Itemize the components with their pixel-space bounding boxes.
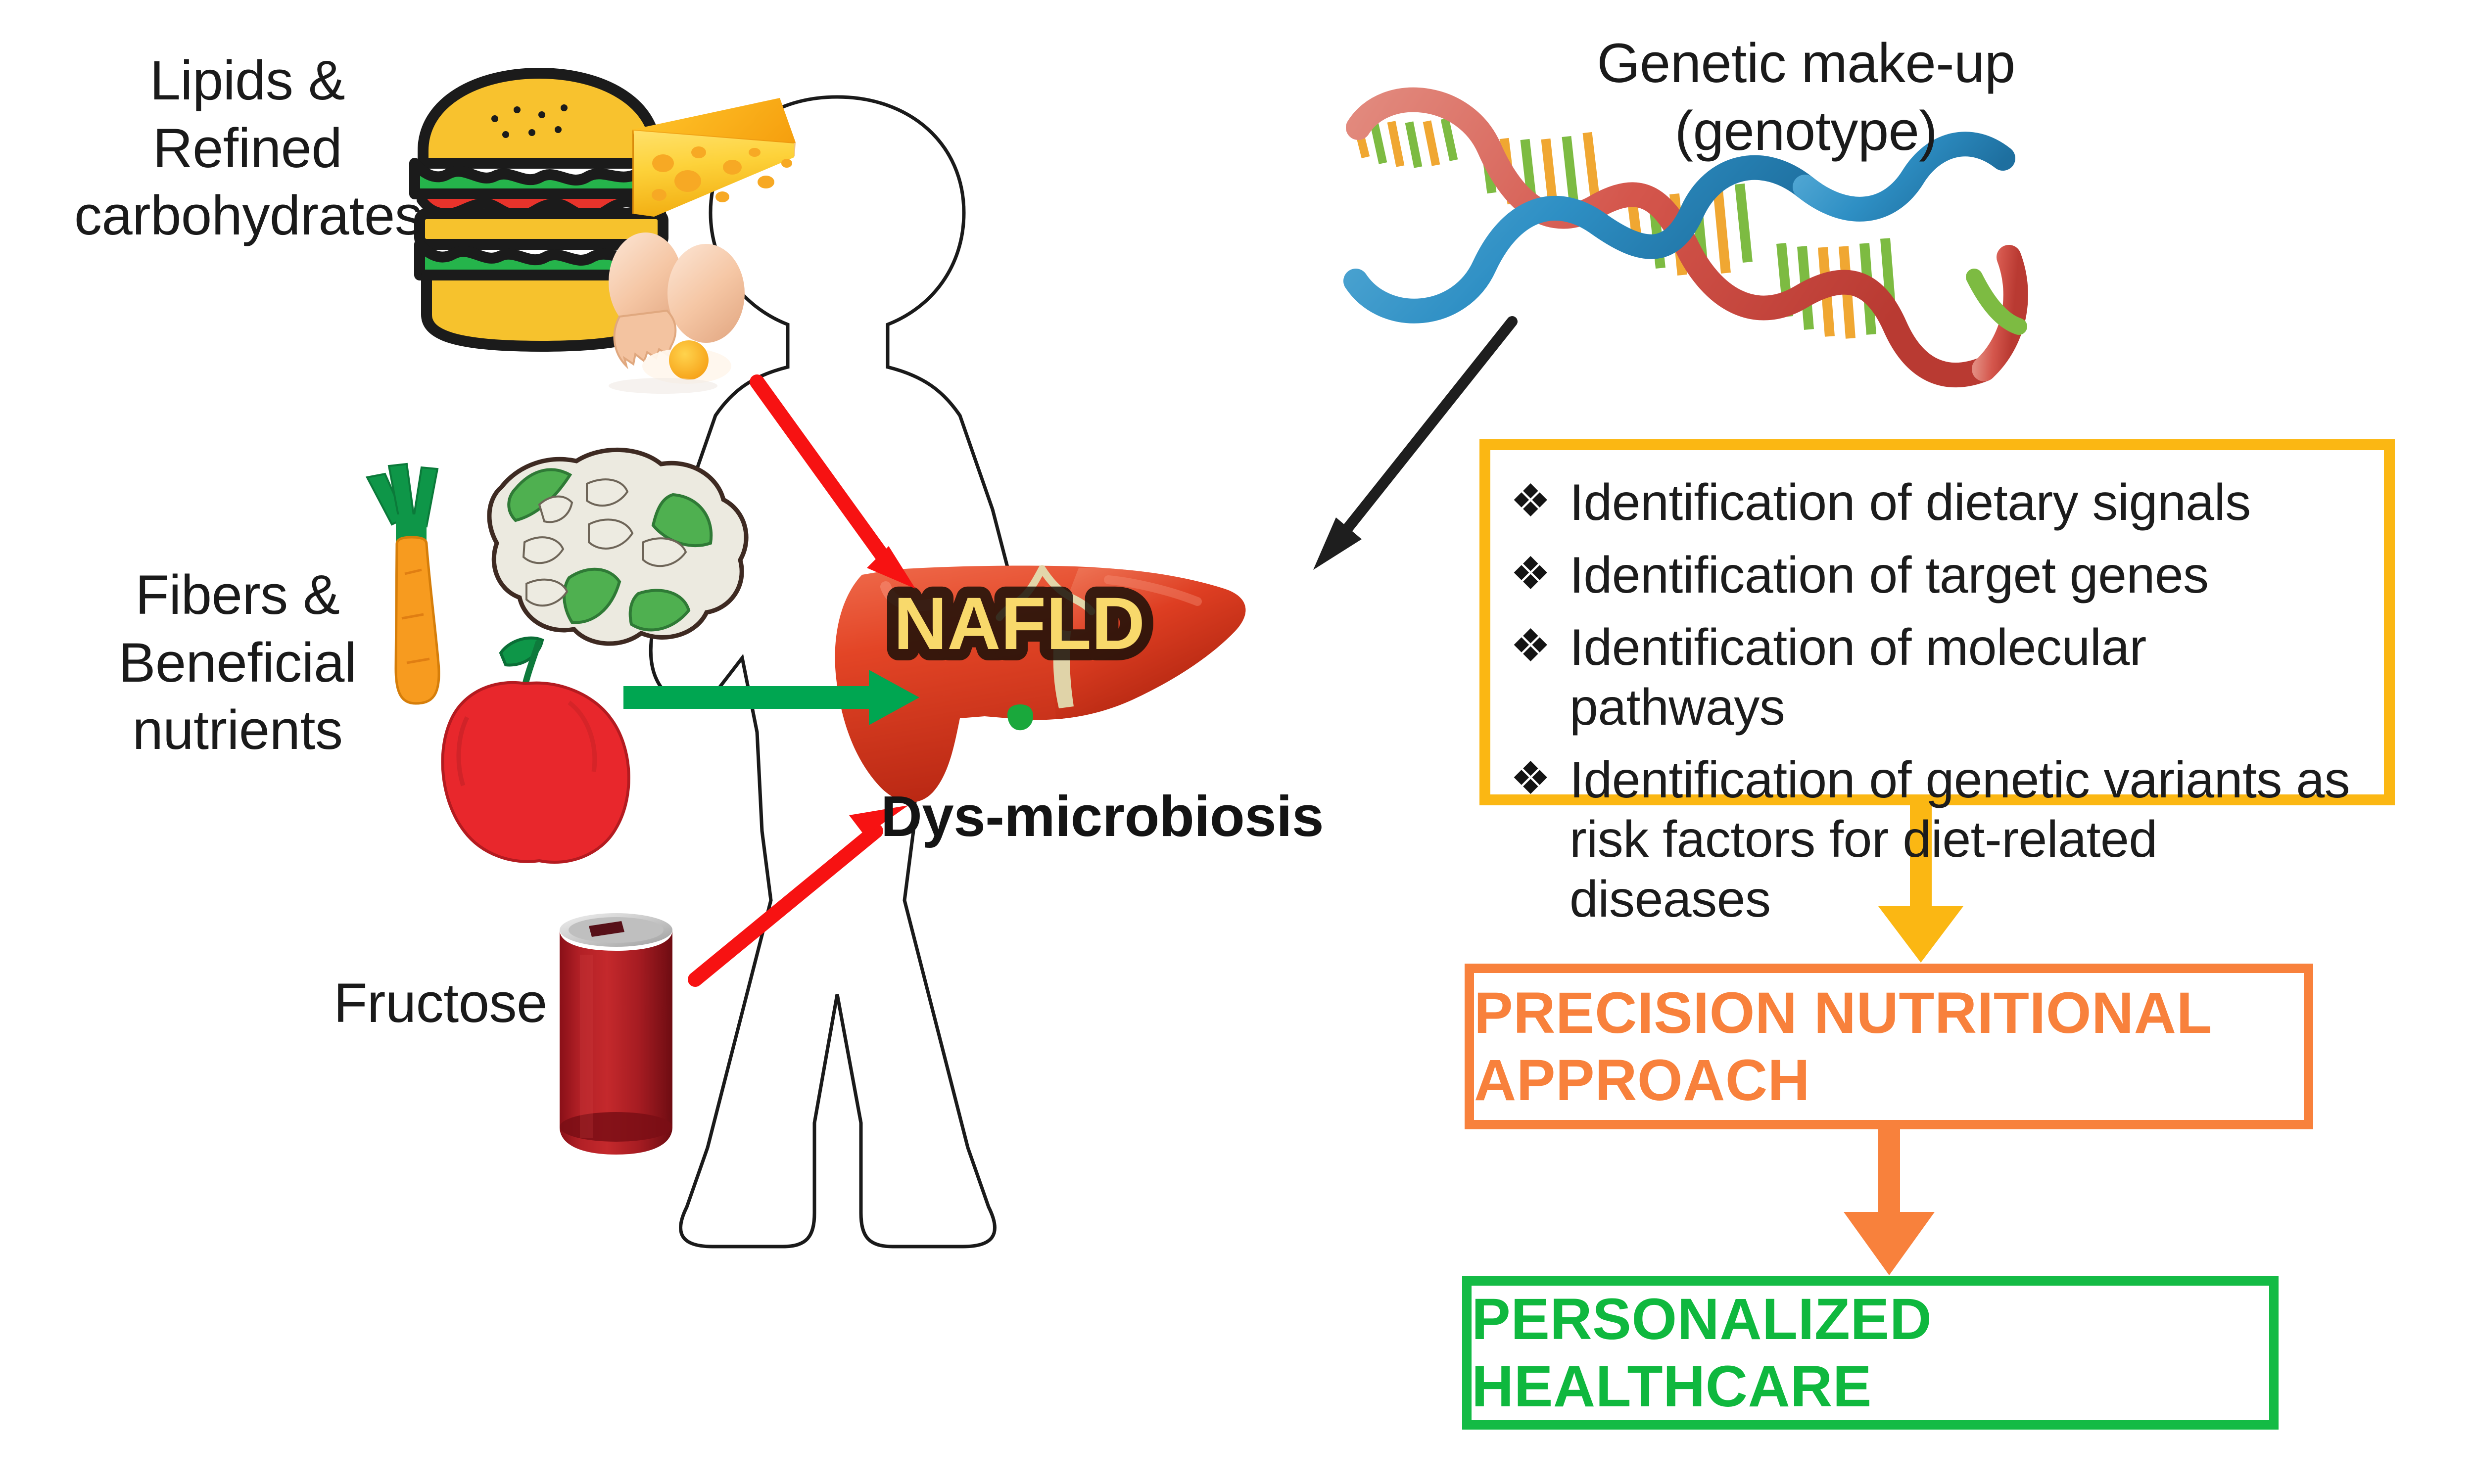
- list-item-label: Identification of genetic variants as ri…: [1570, 750, 2364, 929]
- diagram-canvas: NAFLD NAFLD Lipids & Refi: [0, 0, 2474, 1484]
- arrow-fructose-to-liver: [695, 805, 908, 979]
- apple-icon: [442, 638, 628, 862]
- diamond-bullet-icon: ❖: [1510, 546, 1570, 603]
- svg-text:NAFLD: NAFLD: [894, 582, 1145, 665]
- personalized-healthcare-box: PERSONALIZED HEALTHCARE: [1462, 1276, 2279, 1430]
- arrow-fibers-to-liver: [623, 670, 919, 725]
- personalized-healthcare-label: PERSONALIZED HEALTHCARE: [1472, 1286, 2269, 1420]
- genetic-makeup-label: Genetic make-up (genotype): [1559, 30, 2053, 165]
- list-item-label: Identification of molecular pathways: [1570, 618, 2364, 737]
- list-item: ❖ Identification of dietary signals: [1510, 473, 2364, 533]
- liver-icon: [835, 565, 1245, 802]
- fructose-label: Fructose: [292, 970, 589, 1037]
- precision-nutritional-approach-label: PRECISION NUTRITIONAL APPROACH: [1474, 979, 2304, 1114]
- list-item: ❖ Identification of target genes: [1510, 546, 2364, 605]
- precision-nutritional-approach-box: PRECISION NUTRITIONAL APPROACH: [1465, 964, 2313, 1129]
- lipids-refined-carbohydrates-label: Lipids & Refined carbohydrates: [74, 47, 421, 250]
- nafld-label: NAFLD NAFLD: [894, 582, 1145, 665]
- svg-text:NAFLD: NAFLD: [894, 582, 1145, 665]
- eggs-icon: [609, 232, 745, 394]
- list-item-label: Identification of dietary signals: [1570, 473, 2364, 533]
- list-item-label: Identification of target genes: [1570, 546, 2364, 605]
- cauliflower-icon: [489, 450, 746, 644]
- list-item: ❖ Identification of molecular pathways: [1510, 618, 2364, 737]
- hamburger-icon: [415, 73, 667, 346]
- dys-microbiosis-label: Dys-microbiosis: [881, 782, 1326, 852]
- diamond-bullet-icon: ❖: [1510, 618, 1570, 675]
- diamond-bullet-icon: ❖: [1510, 473, 1570, 530]
- fibers-beneficial-nutrients-label: Fibers & Beneficial nutrients: [79, 561, 396, 764]
- arrow-precision-to-personalized: [1844, 1129, 1935, 1275]
- human-body-outline-icon: [651, 97, 1025, 1247]
- diamond-bullet-icon: ❖: [1510, 750, 1570, 807]
- arrow-lipids-to-liver: [757, 382, 915, 589]
- cheese-wedge-icon: [632, 98, 796, 217]
- identification-list-box: ❖ Identification of dietary signals ❖ Id…: [1479, 439, 2395, 805]
- list-item: ❖ Identification of genetic variants as …: [1510, 750, 2364, 929]
